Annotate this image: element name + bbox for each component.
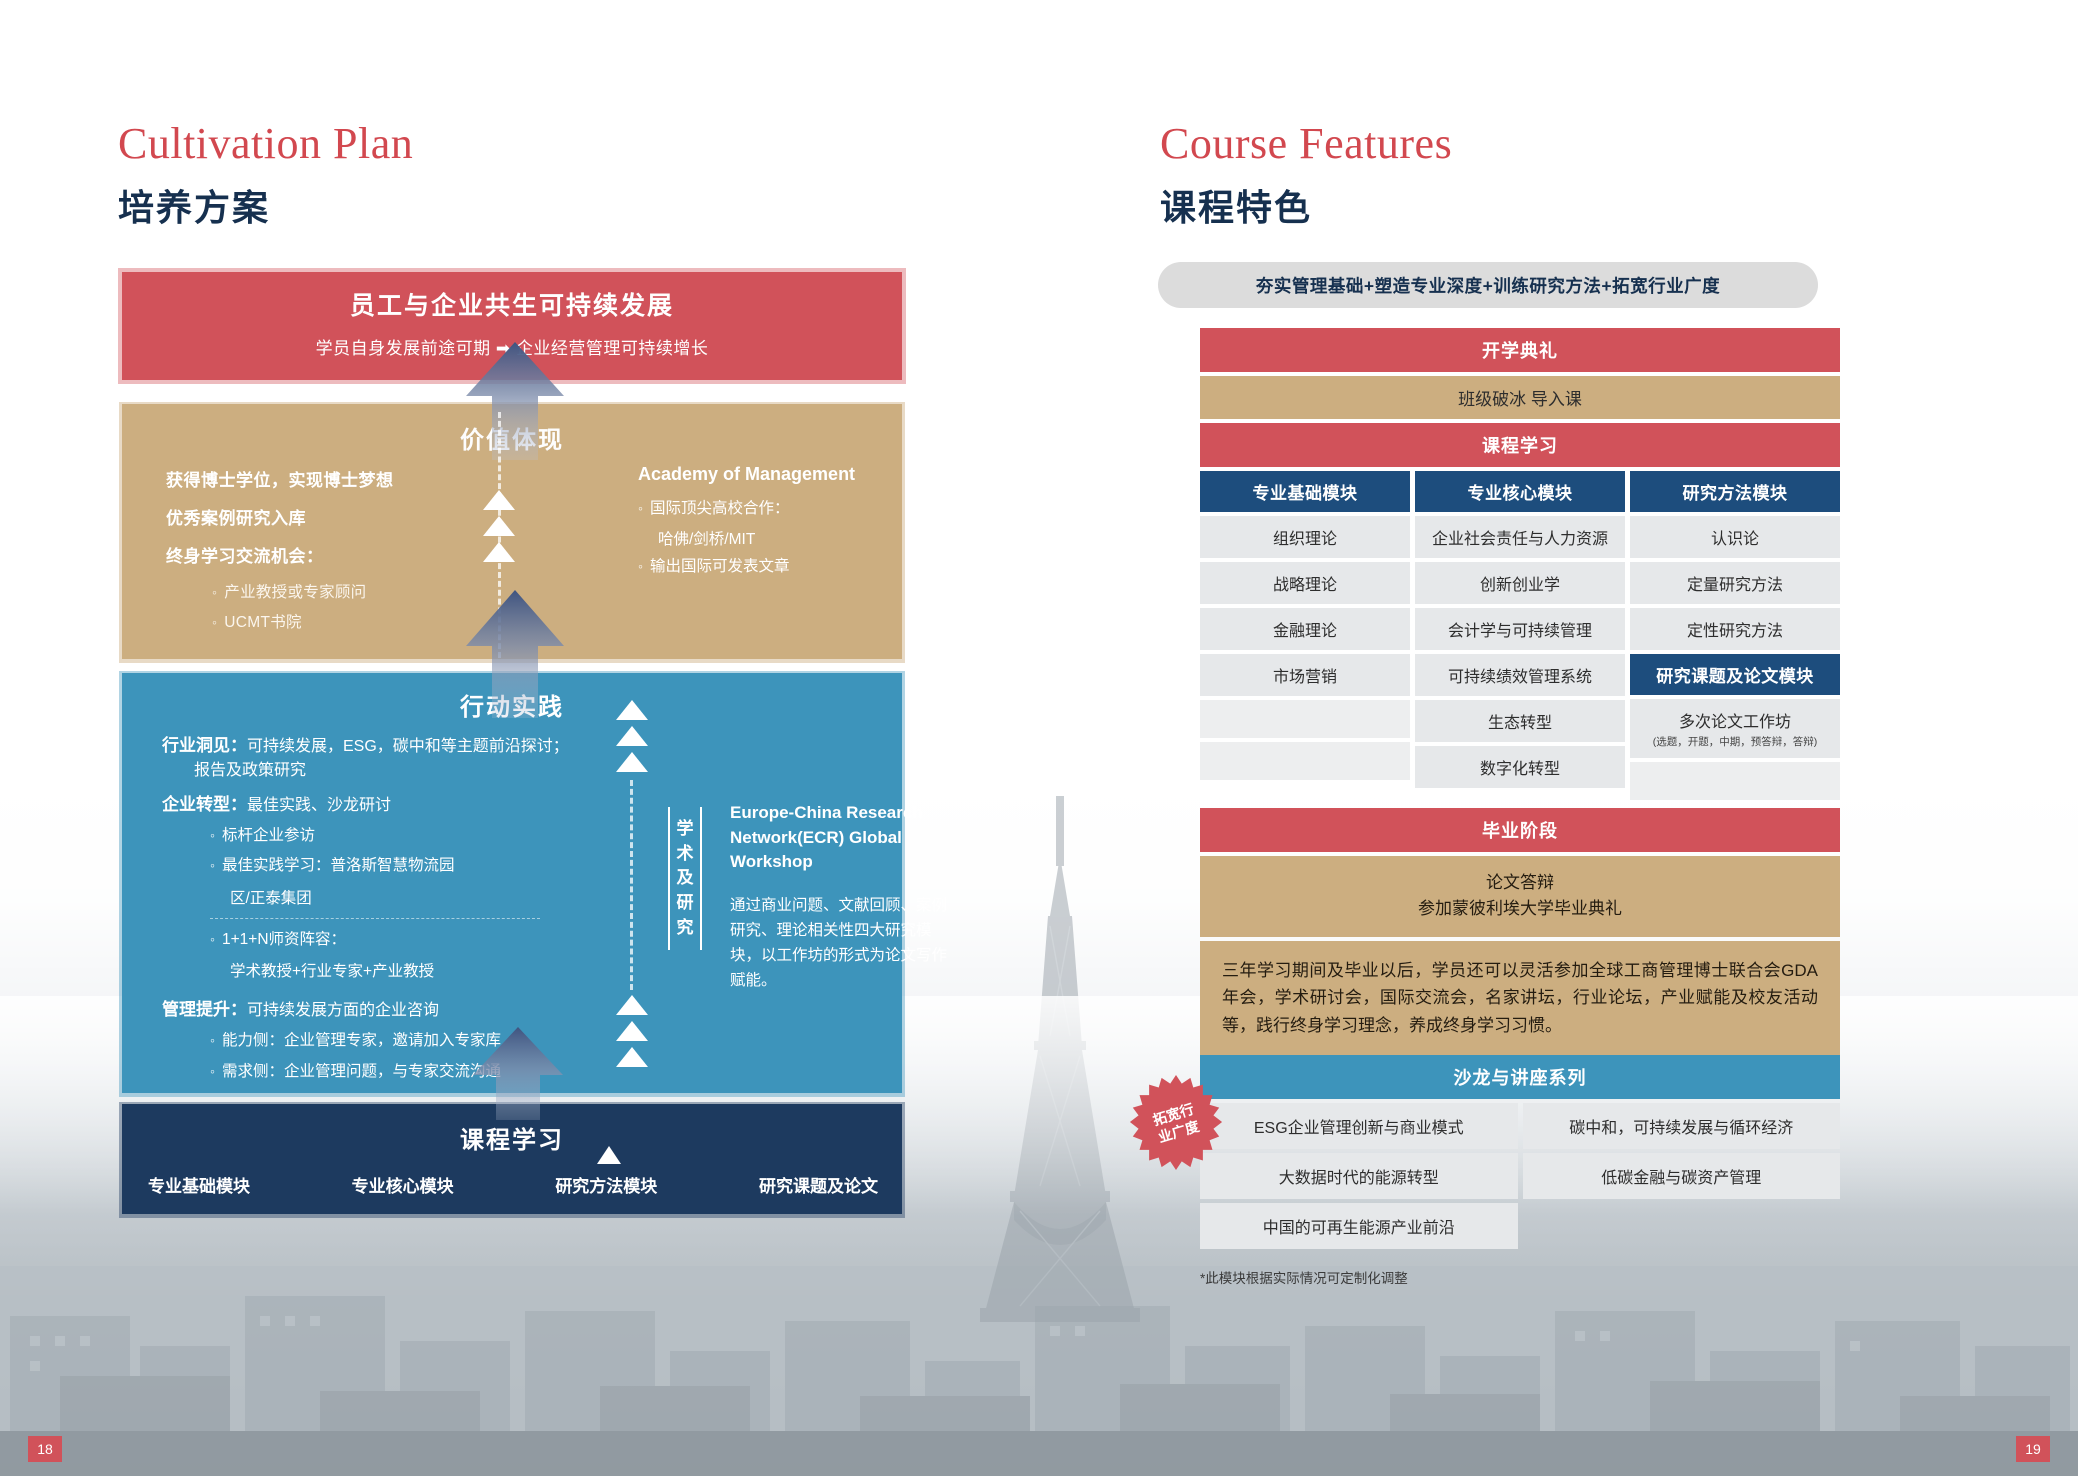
cell-method-2: 定量研究方法 [1630,562,1840,604]
thesis-workshop-main: 多次论文工作坊 [1679,714,1791,731]
page-title-en: Cultivation Plan [118,118,413,169]
graduation-line-2: 参加蒙彼利埃大学毕业典礼 [1200,896,1840,922]
graduation-line-1: 论文答辩 [1200,870,1840,896]
salon-right-item-2: 低碳金融与碳资产管理 [1523,1153,1841,1199]
management-upgrade-label: 管理提升： [162,1000,247,1019]
page-number-right: 19 [2016,1436,2050,1462]
brochure-spread: Cultivation Plan 培养方案 员工与企业共生可持续发展 学员自身发… [0,0,2078,1476]
upward-arrow-to-gold-band [460,588,570,718]
navy-module-2: 专业核心模块 [352,1172,454,1197]
cell-thesis-blank [1630,762,1840,800]
salon-lecture-series: 沙龙与讲座系列 ESG企业管理创新与商业模式 大数据时代的能源转型 中国的可再生… [1200,1055,1840,1287]
industry-insight-continuation: 报告及政策研究 [194,756,642,780]
cell-core-5: 生态转型 [1415,700,1625,742]
navy-course-band: 课程学习 专业基础模块 专业核心模块 研究方法模块 研究课题及论文 [122,1104,902,1214]
blue-sub-1-item-1: 标杆企业参访 [210,825,642,847]
enterprise-transform-value: 最佳实践、沙龙研讨 [247,797,391,814]
ecr-workshop-title: Europe-China Research Network(ECR) Globa… [730,801,950,875]
right-page: Course Features 课程特色 夯实管理基础+塑造专业深度+训练研究方… [1040,0,2078,1476]
ecr-workshop-paragraph: 通过商业问题、文献回顾、案例研究、理论相关性四大研究模块，以工作坊的形式为论文写… [730,893,950,993]
academic-research-vertical-label: 学术及研究 [668,807,702,950]
industry-insight-row: 行业洞见：可持续发展，ESG，碳中和等主题前沿探讨； 报告及政策研究 [162,731,642,780]
module-column-core: 专业核心模块 企业社会责任与人力资源 创新创业学 会计学与可持续管理 可持续绩效… [1415,471,1625,804]
salon-left-item-1: ESG企业管理创新与商业模式 [1200,1103,1518,1149]
navy-band-heading: 课程学习 [122,1120,902,1155]
gold-line-2: 优秀案例研究入库 [166,504,586,529]
industry-insight-value: 可持续发展，ESG，碳中和等主题前沿探讨； [247,738,569,755]
graduation-header-row: 毕业阶段 [1200,808,1840,852]
navy-module-4: 研究课题及论文 [759,1172,878,1197]
management-upgrade-value: 可持续发展方面的企业咨询 [247,1002,439,1019]
column-header-thesis: 研究课题及论文模块 [1630,654,1840,695]
footnote-customization: *此模块根据实际情况可定制化调整 [1200,1267,1840,1287]
opening-ceremony-row: 开学典礼 [1200,328,1840,372]
industry-insight-label: 行业洞见： [162,736,247,755]
blue-sub-1-item-2: 最佳实践学习：普洛斯智慧物流园 [210,855,642,877]
salon-right-item-1: 碳中和，可持续发展与循环经济 [1523,1103,1841,1149]
cell-core-2: 创新创业学 [1415,562,1625,604]
lifelong-learning-paragraph: 三年学习期间及毕业以后，学员还可以灵活参加全球工商管理博士联合会GDA年会，学术… [1200,941,1840,1056]
cell-basic-1: 组织理论 [1200,516,1410,558]
chevron-stack-blue-top [615,700,649,776]
blue-sub-divider [210,918,540,919]
course-study-row: 课程学习 [1200,423,1840,467]
salon-right-item-3 [1523,1203,1841,1245]
module-columns: 专业基础模块 组织理论 战略理论 金融理论 市场营销 专业核心模块 企业社会责任… [1200,471,1840,804]
salon-header: 沙龙与讲座系列 [1200,1055,1840,1099]
cell-basic-4: 市场营销 [1200,654,1410,696]
gold-line-1: 获得博士学位，实现博士梦想 [166,466,586,491]
course-formula-pill: 夯实管理基础+塑造专业深度+训练研究方法+拓宽行业广度 [1158,262,1818,308]
salon-grid: ESG企业管理创新与商业模式 大数据时代的能源转型 中国的可再生能源产业前沿 碳… [1200,1103,1840,1253]
academy-of-management-title: Academy of Management [638,464,888,485]
cell-core-3: 会计学与可持续管理 [1415,608,1625,650]
icebreak-row: 班级破冰 导入课 [1200,376,1840,419]
gold-band-right-column: Academy of Management 国际顶尖高校合作： 哈佛/剑桥/MI… [638,464,888,586]
thesis-workshop-sub: (选题，开题，中期，预答辩，答辩) [1630,734,1840,749]
upward-arrow-to-red-band [460,340,570,460]
page-number-left: 18 [28,1436,62,1462]
cell-basic-6 [1200,742,1410,780]
column-header-core: 专业核心模块 [1415,471,1625,512]
red-band-title: 员工与企业共生可持续发展 [122,286,902,322]
cell-core-1: 企业社会责任与人力资源 [1415,516,1625,558]
salon-left-item-3: 中国的可再生能源产业前沿 [1200,1203,1518,1249]
page-title-cn-right: 课程特色 [1160,179,1452,231]
blue-sub-2-item-1: 1+1+N师资阵容： [210,929,642,951]
right-page-header: Course Features 课程特色 [1160,118,1452,231]
blue-sub-3-item-2: 需求侧：企业管理问题，与专家交流沟通 [210,1061,642,1083]
page-title-en-right: Course Features [1160,118,1452,169]
cell-basic-2: 战略理论 [1200,562,1410,604]
salon-column-right: 碳中和，可持续发展与循环经济 低碳金融与碳资产管理 [1523,1103,1841,1253]
navy-module-1: 专业基础模块 [148,1172,250,1197]
enterprise-transform-label: 企业转型： [162,795,247,814]
blue-sub-group-3: 能力侧：企业管理专家，邀请加入专家库 需求侧：企业管理问题，与专家交流沟通 [210,1030,642,1083]
gold-line-3: 终身学习交流机会： [166,542,586,567]
academy-item-1-continuation: 哈佛/剑桥/MIT [658,527,888,549]
left-page-header: Cultivation Plan 培养方案 [118,118,413,231]
blue-sub-group-2: 1+1+N师资阵容： 学术教授+行业专家+产业教授 [210,929,642,981]
module-column-basic: 专业基础模块 组织理论 战略理论 金融理论 市场营销 [1200,471,1410,804]
page-title-cn: 培养方案 [118,179,413,231]
blue-band-right-column: Europe-China Research Network(ECR) Globa… [730,801,950,993]
chevron-stack-gold [482,490,516,566]
column-header-basic: 专业基础模块 [1200,471,1410,512]
cell-method-1: 认识论 [1630,516,1840,558]
module-column-method: 研究方法模块 认识论 定量研究方法 定性研究方法 研究课题及论文模块 多次论文工… [1630,471,1840,804]
upward-arrow-to-blue-band [468,1025,568,1120]
salon-left-item-2: 大数据时代的能源转型 [1200,1153,1518,1199]
cell-basic-5 [1200,700,1410,738]
column-header-method: 研究方法模块 [1630,471,1840,512]
management-upgrade-row: 管理提升：可持续发展方面的企业咨询 [162,995,642,1020]
enterprise-transform-row: 企业转型：最佳实践、沙龙研讨 [162,790,642,815]
cell-basic-3: 金融理论 [1200,608,1410,650]
chevron-navy [596,1146,622,1176]
academy-item-1: 国际顶尖高校合作： [638,498,888,520]
cell-core-6: 数字化转型 [1415,746,1625,788]
academy-item-2: 输出国际可发表文章 [638,556,888,578]
blue-band-divider [630,780,633,990]
cell-method-3: 定性研究方法 [1630,608,1840,650]
salon-column-left: ESG企业管理创新与商业模式 大数据时代的能源转型 中国的可再生能源产业前沿 [1200,1103,1518,1253]
blue-sub-2-item-1-continuation: 学术教授+行业专家+产业教授 [230,959,642,981]
graduation-detail-row: 论文答辩 参加蒙彼利埃大学毕业典礼 [1200,856,1840,937]
chevron-stack-blue-bottom [615,995,649,1071]
blue-sub-group-1: 标杆企业参访 最佳实践学习：普洛斯智慧物流园 区/正泰集团 [210,825,642,908]
blue-sub-1-item-2-continuation: 区/正泰集团 [230,886,642,908]
curriculum-table: 开学典礼 班级破冰 导入课 课程学习 专业基础模块 组织理论 战略理论 金融理论… [1200,328,1840,1089]
blue-band-left-column: 行业洞见：可持续发展，ESG，碳中和等主题前沿探讨； 报告及政策研究 企业转型：… [162,731,642,1091]
left-page: Cultivation Plan 培养方案 员工与企业共生可持续发展 学员自身发… [0,0,1040,1476]
navy-module-list: 专业基础模块 专业核心模块 研究方法模块 研究课题及论文 [148,1172,878,1197]
cell-thesis-workshop: 多次论文工作坊 (选题，开题，中期，预答辩，答辩) [1630,699,1840,758]
blue-sub-3-item-1: 能力侧：企业管理专家，邀请加入专家库 [210,1030,642,1052]
cell-core-4: 可持续绩效管理系统 [1415,654,1625,696]
